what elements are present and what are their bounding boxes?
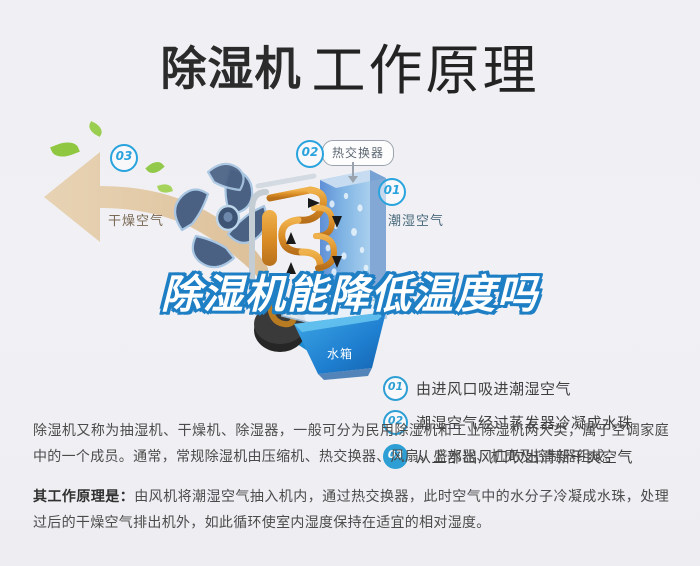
legend-label-01: 由进风口吸进潮湿空气 — [416, 378, 571, 399]
body-paragraph-1: 除湿机又称为抽湿机、干燥机、除湿器，一般可分为民用除湿机和工业除湿机两大类，属于… — [33, 418, 669, 470]
body-paragraph-2-lead: 其工作原理是： — [33, 489, 134, 505]
page-title: 除湿机工作原理 — [0, 26, 700, 105]
infographic-page: 除湿机工作原理 — [0, 0, 700, 566]
diagram-badge-01: 01 — [378, 178, 406, 206]
diagram-badge-02: 02 — [296, 140, 324, 168]
legend-item-01: 01 由进风口吸进潮湿空气 — [383, 371, 683, 405]
heat-exchanger-callout: 热交换器 — [322, 140, 394, 166]
callout-pointer-icon — [352, 162, 354, 178]
leaf-icon — [87, 121, 105, 137]
body-paragraph-2: 其工作原理是：由风机将潮湿空气抽入机内，通过热交换器，此时空气中的水分子冷凝成水… — [33, 484, 669, 536]
article-body: 除湿机又称为抽湿机、干燥机、除湿器，一般可分为民用除湿机和工业除湿机两大类，属于… — [33, 418, 669, 536]
water-tank-label: 水箱 — [327, 345, 353, 362]
dry-air-label: 干燥空气 — [108, 210, 164, 229]
title-light-part: 工作原理 — [312, 39, 540, 102]
diagram-stage: 干燥空气 潮湿空气 水箱 热交换器 03 02 01 01 由进风口吸进潮湿空气… — [0, 118, 700, 398]
title-bold-part: 除湿机 — [161, 42, 302, 96]
legend-number-01: 01 — [383, 376, 408, 401]
diagram-badge-03: 03 — [110, 144, 138, 172]
humid-air-label: 潮湿空气 — [388, 210, 444, 229]
overlay-headline: 除湿机能降低温度吗 — [0, 262, 700, 320]
